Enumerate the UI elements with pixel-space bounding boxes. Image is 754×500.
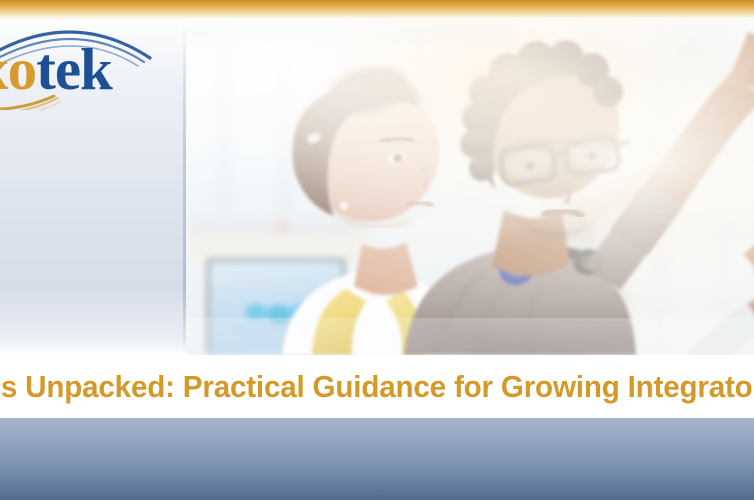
exotek-logo: exotek [0, 14, 190, 110]
title-band: Os Unpacked: Practical Guidance for Grow… [0, 355, 754, 418]
logo-text-exo: exo [0, 36, 36, 102]
bottom-gradient-band [0, 418, 754, 500]
hero-photo [186, 18, 754, 355]
slide-canvas: exotek Os Unpacked: Practical Guidance f… [0, 0, 754, 500]
logo-wordmark: exotek [0, 40, 112, 99]
logo-text-tek: tek [36, 36, 112, 102]
page-title: Os Unpacked: Practical Guidance for Grow… [0, 371, 754, 402]
hero-photo-illustration [186, 18, 754, 355]
